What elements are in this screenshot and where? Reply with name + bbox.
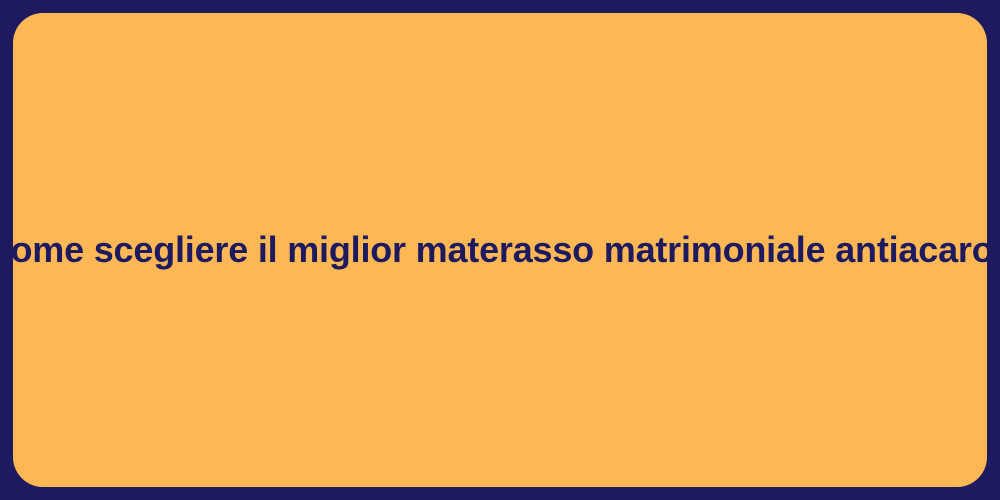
banner-card: Come scegliere il miglior materasso matr… — [13, 13, 987, 487]
page-title: Come scegliere il miglior materasso matr… — [0, 229, 1000, 270]
banner-frame: Come scegliere il miglior materasso matr… — [0, 0, 1000, 500]
